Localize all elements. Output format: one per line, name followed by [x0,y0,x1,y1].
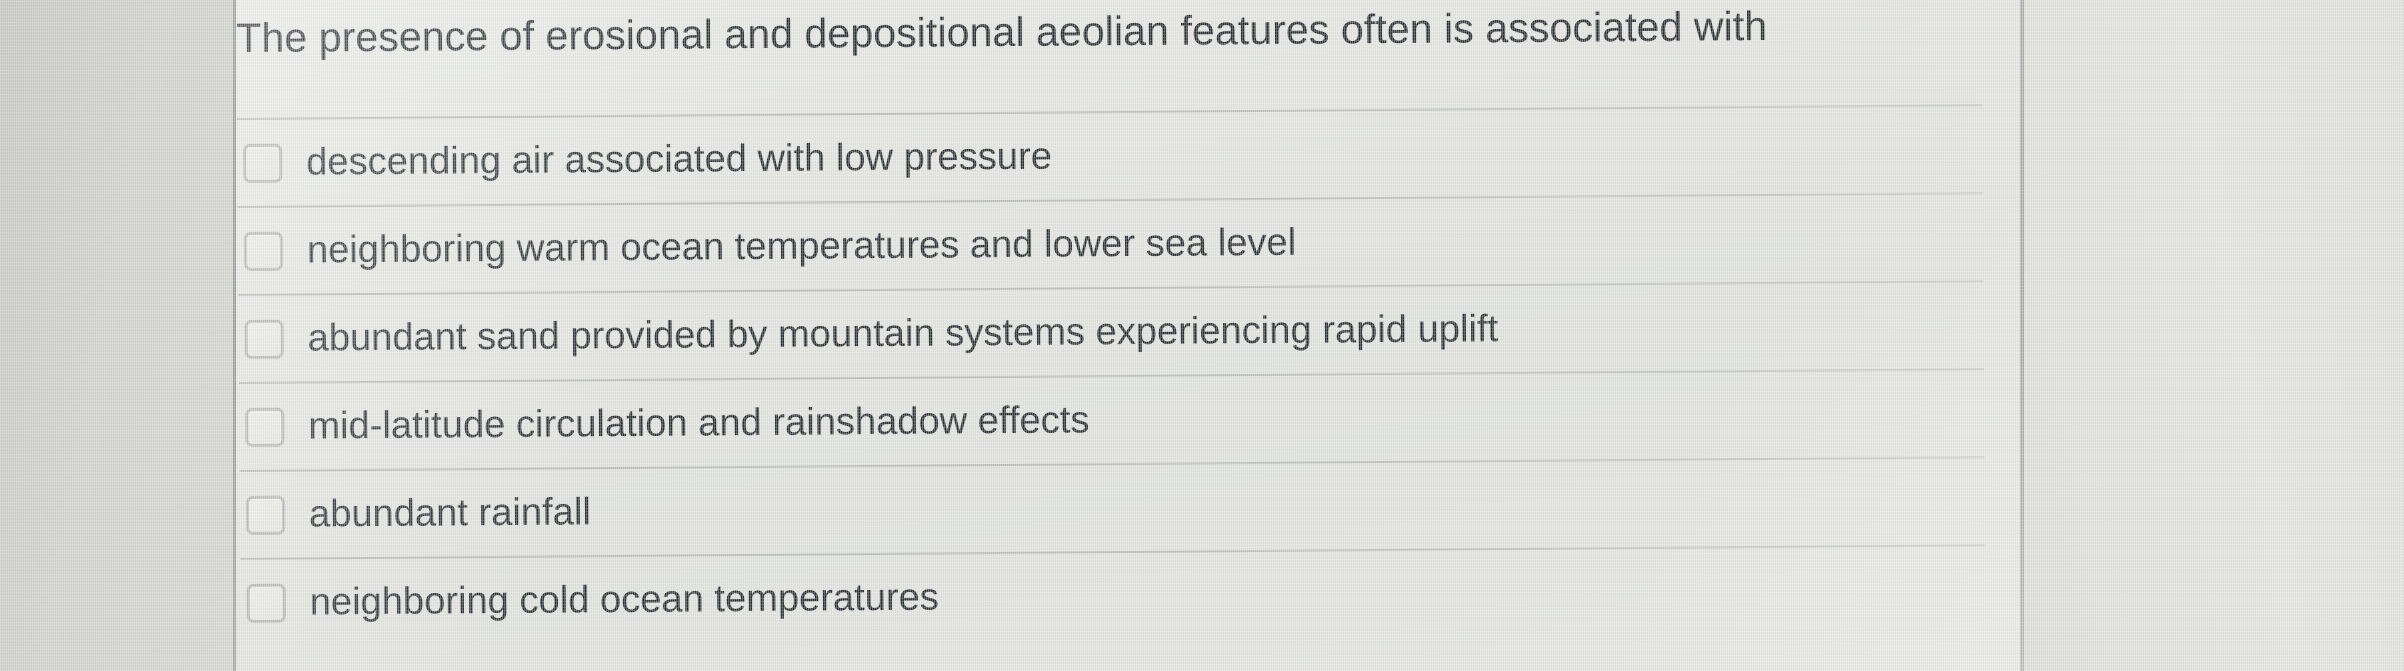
checkbox-icon[interactable] [247,583,286,622]
right-page-gutter [2025,0,2404,671]
checkbox-icon[interactable] [246,495,285,534]
answer-option-3[interactable]: abundant sand provided by mountain syste… [238,282,1984,382]
question-stem: The presence of erosional and deposition… [236,0,1936,64]
screenshot-scene: The presence of erosional and deposition… [0,0,2404,671]
checkbox-icon[interactable] [245,407,284,446]
checkbox-icon[interactable] [243,143,282,182]
answer-option-2[interactable]: neighboring warm ocean temperatures and … [238,194,1984,294]
checkbox-icon[interactable] [244,231,283,270]
checkbox-icon[interactable] [245,319,284,358]
answer-options-list: descending air associated with low press… [237,104,1986,646]
answer-option-label: mid-latitude circulation and rainshadow … [308,398,1089,448]
answer-option-label: descending air associated with low press… [306,135,1052,185]
answer-option-1[interactable]: descending air associated with low press… [237,106,1983,206]
answer-option-5[interactable]: abundant rainfall [240,458,1986,558]
answer-option-label: abundant rainfall [309,490,591,536]
answer-option-6[interactable]: neighboring cold ocean temperatures [240,546,1986,646]
answer-option-label: neighboring cold ocean temperatures [310,575,939,624]
answer-option-label: abundant sand provided by mountain syste… [307,307,1498,360]
answer-option-label: neighboring warm ocean temperatures and … [307,221,1297,273]
left-page-gutter [0,0,233,671]
answer-option-4[interactable]: mid-latitude circulation and rainshadow … [239,370,1985,470]
question-content: The presence of erosional and deposition… [236,0,2031,671]
